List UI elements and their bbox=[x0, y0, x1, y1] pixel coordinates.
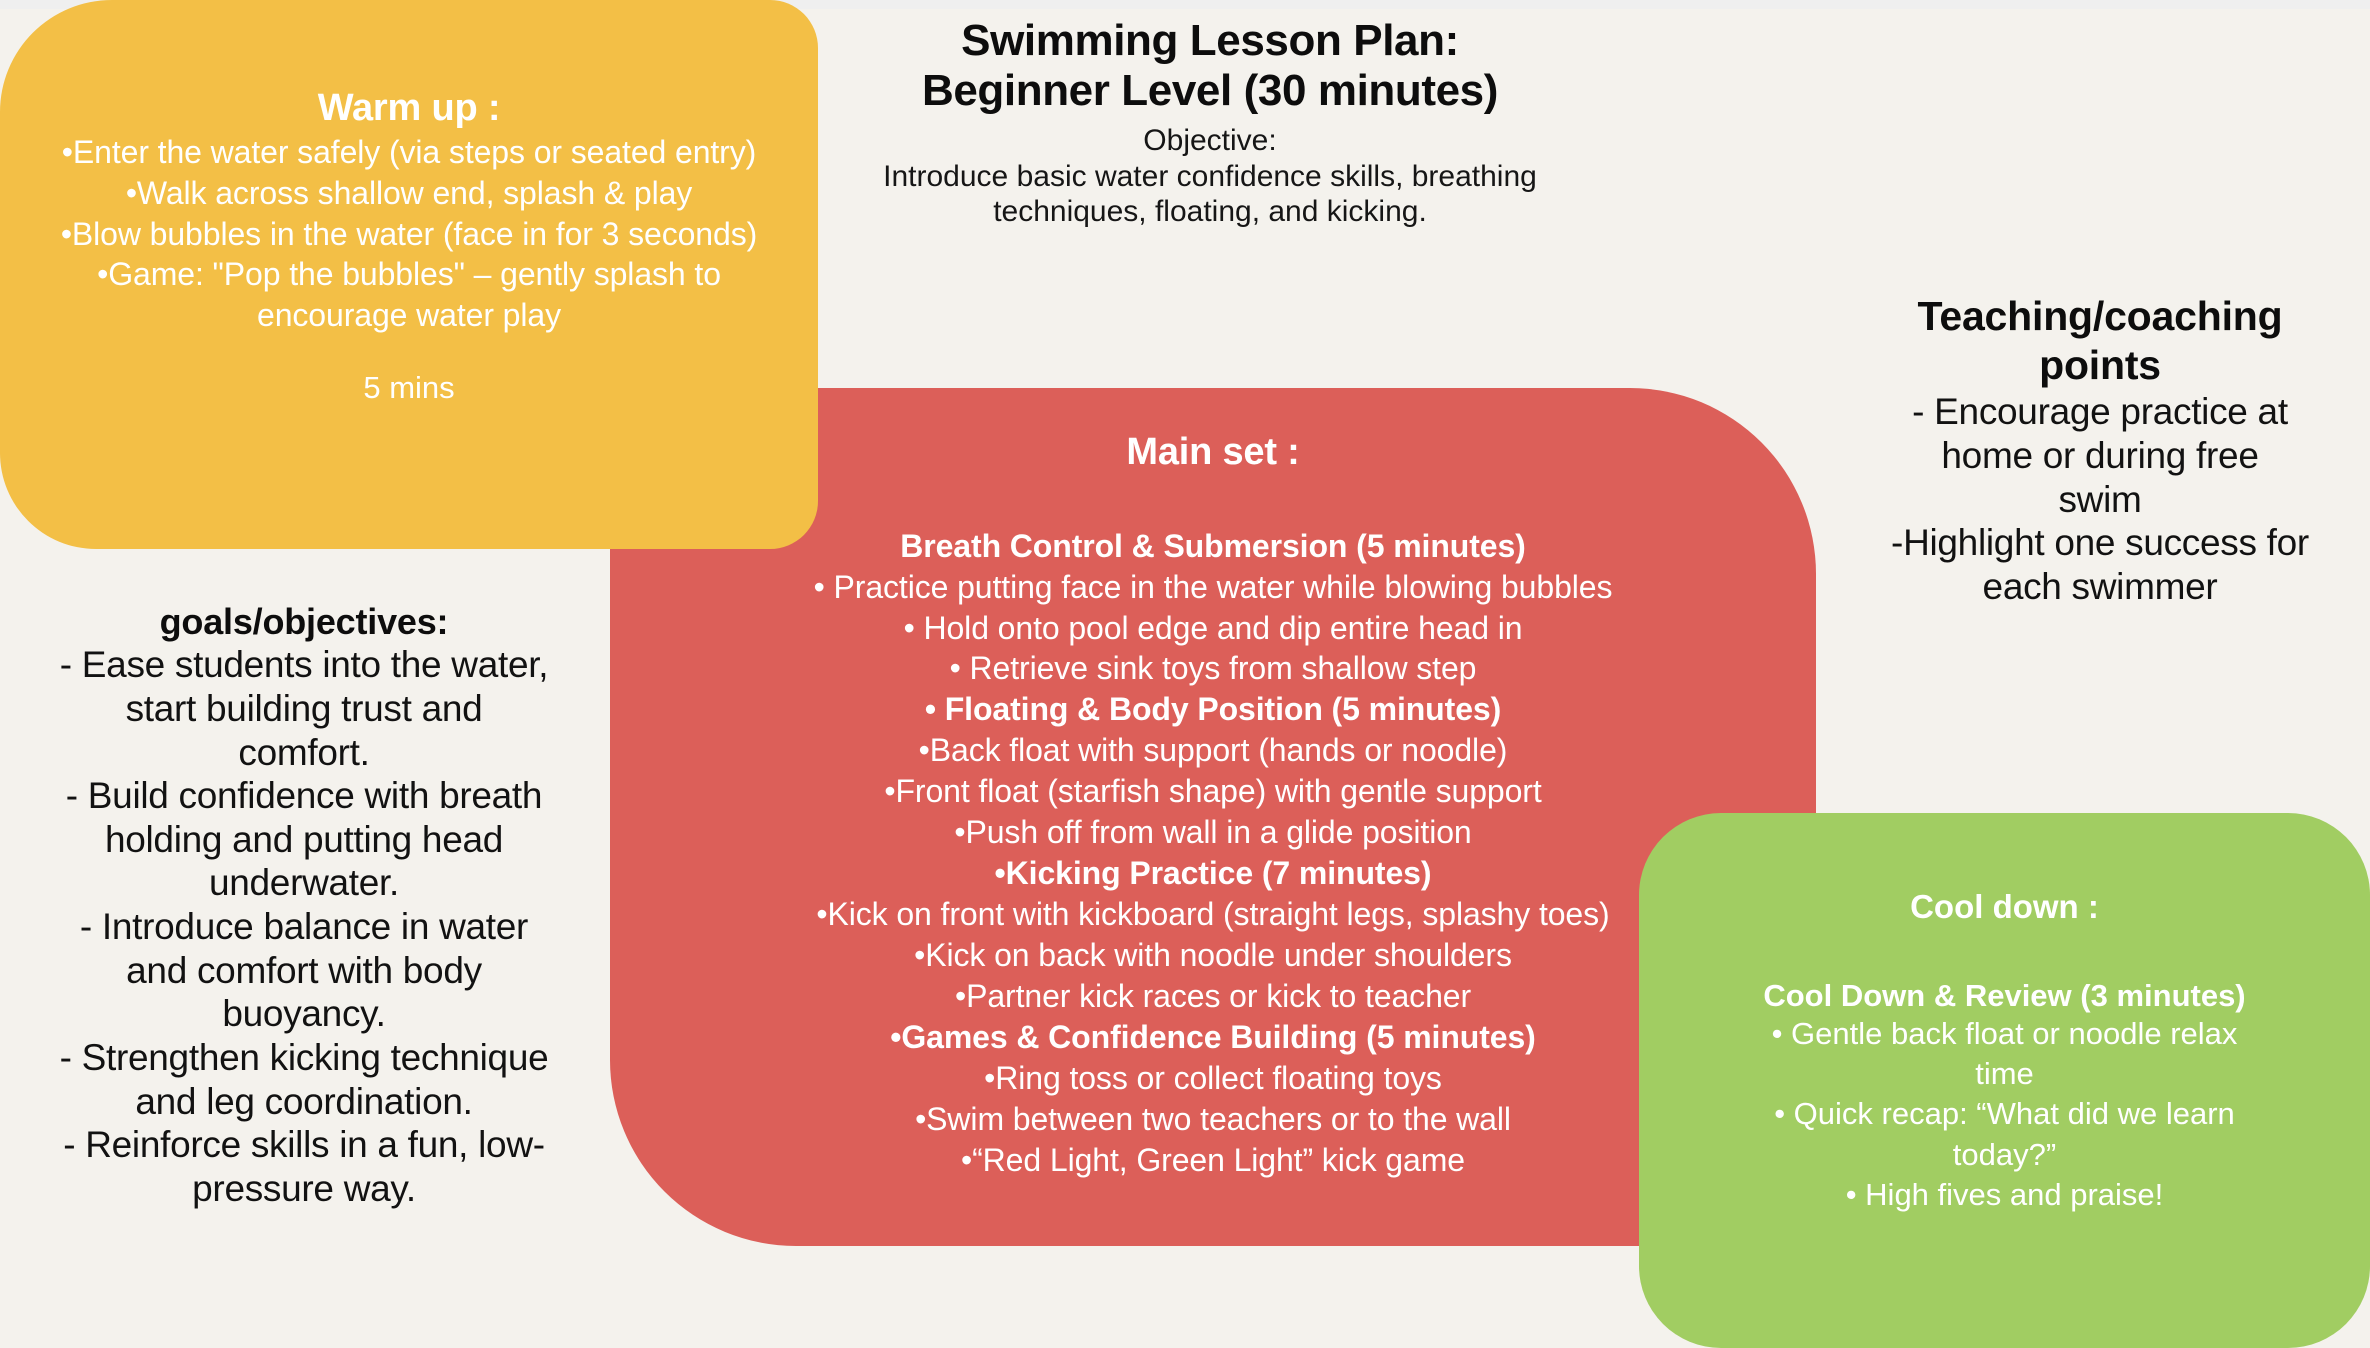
cool-down-heading: Cool down : bbox=[1639, 887, 2370, 927]
objective-label: Objective: bbox=[820, 123, 1600, 158]
cool-down-card[interactable]: Cool down : Cool Down & Review (3 minute… bbox=[1639, 813, 2370, 1348]
main-set-line: •Kick on back with noodle under shoulder… bbox=[610, 935, 1816, 976]
goals-item: start building trust and bbox=[0, 687, 608, 731]
objective-line: Introduce basic water confidence skills,… bbox=[820, 159, 1600, 194]
goals-item: - Reinforce skills in a fun, low- bbox=[0, 1123, 608, 1167]
main-set-line: •Kicking Practice (7 minutes) bbox=[610, 853, 1816, 894]
cool-down-item: • Quick recap: “What did we learn bbox=[1639, 1094, 2370, 1134]
warm-up-item: •Walk across shallow end, splash & play bbox=[26, 173, 792, 214]
cool-down-item: today?” bbox=[1639, 1135, 2370, 1175]
warm-up-spacer bbox=[26, 336, 792, 370]
goals-item: buoyancy. bbox=[0, 992, 608, 1036]
goals-item: - Introduce balance in water bbox=[0, 905, 608, 949]
teaching-points-item: home or during free bbox=[1836, 434, 2364, 478]
goals-item: and leg coordination. bbox=[0, 1080, 608, 1124]
main-set-line: •Partner kick races or kick to teacher bbox=[610, 976, 1816, 1017]
main-set-line: •“Red Light, Green Light” kick game bbox=[610, 1140, 1816, 1181]
page-title-line-2: Beginner Level (30 minutes) bbox=[820, 66, 1600, 116]
goals-item: and comfort with body bbox=[0, 949, 608, 993]
objective-line: techniques, floating, and kicking. bbox=[820, 194, 1600, 229]
main-set-line: • Hold onto pool edge and dip entire hea… bbox=[610, 608, 1816, 649]
warm-up-item: encourage water play bbox=[26, 295, 792, 336]
main-set-line: •Front float (starfish shape) with gentl… bbox=[610, 771, 1816, 812]
teaching-points-item: - Encourage practice at bbox=[1836, 390, 2364, 434]
cool-down-item: • Gentle back float or noodle relax bbox=[1639, 1014, 2370, 1054]
cool-down-top-spacer bbox=[1639, 813, 2370, 887]
warm-up-item: •Blow bubbles in the water (face in for … bbox=[26, 214, 792, 255]
goals-item: - Build confidence with breath bbox=[0, 774, 608, 818]
cool-down-item: time bbox=[1639, 1054, 2370, 1094]
cool-down-item: • High fives and praise! bbox=[1639, 1175, 2370, 1215]
page-title-line-1: Swimming Lesson Plan: bbox=[820, 16, 1600, 66]
main-set-line: •Kick on front with kickboard (straight … bbox=[610, 894, 1816, 935]
goals-heading: goals/objectives: bbox=[0, 600, 608, 643]
warm-up-card[interactable]: Warm up : •Enter the water safely (via s… bbox=[0, 0, 818, 549]
cool-down-subheading: Cool Down & Review (3 minutes) bbox=[1639, 977, 2370, 1014]
teaching-points-item: swim bbox=[1836, 478, 2364, 522]
warm-up-duration: 5 mins bbox=[26, 370, 792, 406]
warm-up-item: •Game: "Pop the bubbles" – gently splash… bbox=[26, 254, 792, 295]
main-set-line: •Games & Confidence Building (5 minutes) bbox=[610, 1017, 1816, 1058]
warm-up-heading: Warm up : bbox=[26, 86, 792, 132]
main-set-line: •Swim between two teachers or to the wal… bbox=[610, 1099, 1816, 1140]
goals-item: underwater. bbox=[0, 861, 608, 905]
main-set-line: •Back float with support (hands or noodl… bbox=[610, 730, 1816, 771]
goals-item: holding and putting head bbox=[0, 818, 608, 862]
main-set-line: •Ring toss or collect floating toys bbox=[610, 1058, 1816, 1099]
goals-item: - Strengthen kicking technique bbox=[0, 1036, 608, 1080]
teaching-points-block: Teaching/coaching points - Encourage pra… bbox=[1836, 292, 2364, 609]
warm-up-item: •Enter the water safely (via steps or se… bbox=[26, 132, 792, 173]
teaching-points-item: each swimmer bbox=[1836, 565, 2364, 609]
slide-canvas: Warm up : •Enter the water safely (via s… bbox=[0, 0, 2370, 1348]
goals-item: comfort. bbox=[0, 731, 608, 775]
teaching-points-item: -Highlight one success for bbox=[1836, 521, 2364, 565]
goals-objectives-block: goals/objectives: - Ease students into t… bbox=[0, 600, 608, 1211]
main-set-line: •Push off from wall in a glide position bbox=[610, 812, 1816, 853]
main-set-line: • Floating & Body Position (5 minutes) bbox=[610, 689, 1816, 730]
goals-item: - Ease students into the water, bbox=[0, 643, 608, 687]
cool-down-spacer bbox=[1639, 927, 2370, 977]
goals-item: pressure way. bbox=[0, 1167, 608, 1211]
teaching-points-heading-line-2: points bbox=[1836, 341, 2364, 390]
page-title: Swimming Lesson Plan: Beginner Level (30… bbox=[820, 16, 1600, 230]
teaching-points-heading-line-1: Teaching/coaching bbox=[1836, 292, 2364, 341]
main-set-line: • Retrieve sink toys from shallow step bbox=[610, 648, 1816, 689]
main-set-line: • Practice putting face in the water whi… bbox=[610, 567, 1816, 608]
